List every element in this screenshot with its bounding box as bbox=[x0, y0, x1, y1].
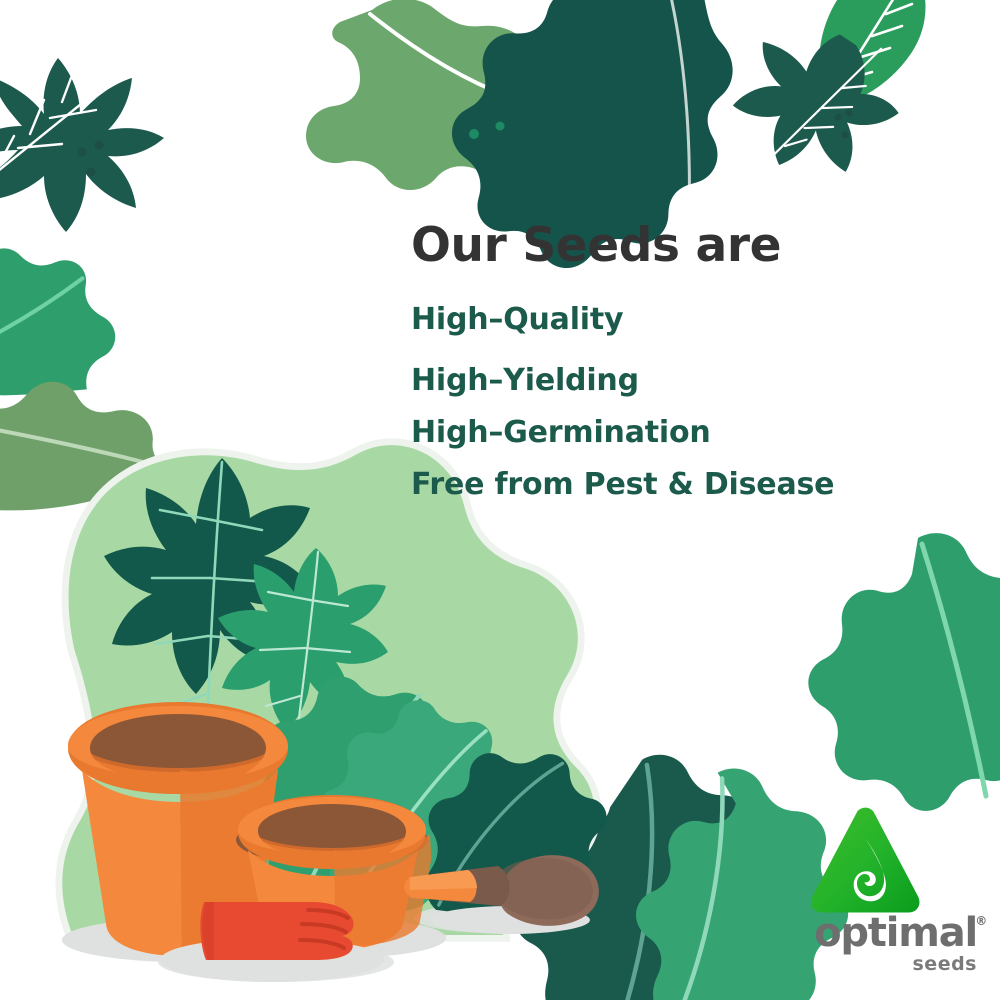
leaf-bottom-right-dark-wavy bbox=[500, 744, 789, 1000]
plant-dark-oak-leaves bbox=[104, 458, 312, 760]
large-terracotta-pot bbox=[68, 702, 300, 980]
benefit-item-high-quality: High–Quality bbox=[411, 305, 971, 335]
plant-broad-wavy-leaves bbox=[194, 656, 626, 938]
optimal-seeds-triangle-mark-icon bbox=[806, 806, 924, 914]
benefit-item-high-yielding: High–Yielding bbox=[411, 366, 971, 396]
dot-cluster-top-center bbox=[469, 122, 505, 140]
brand-name-text: optimal bbox=[814, 910, 977, 956]
benefits-list: High–Quality High–Yielding High–Germinat… bbox=[411, 305, 971, 500]
leaf-top-right-oak bbox=[723, 16, 912, 187]
small-terracotta-pot bbox=[236, 795, 438, 976]
logo-wordmark: optimal ® seeds bbox=[756, 914, 986, 975]
leaf-top-center-sage-wavy bbox=[306, 0, 601, 190]
leaf-top-right-pointed bbox=[819, 0, 925, 108]
headline-block: Our Seeds are High–Quality High–Yielding… bbox=[411, 222, 971, 500]
brand-tagline: seeds bbox=[756, 953, 986, 975]
brand-name: optimal ® bbox=[814, 914, 986, 952]
leaf-right-sea-green-wavy bbox=[808, 533, 1000, 811]
benefit-item-high-germination: High–Germination bbox=[411, 418, 971, 448]
leaf-top-left-oak bbox=[0, 58, 164, 232]
registered-trademark-symbol: ® bbox=[975, 916, 986, 927]
brand-logo: optimal ® seeds bbox=[756, 806, 986, 971]
poster-canvas: Our Seeds are High–Quality High–Yielding… bbox=[0, 0, 1000, 1000]
dot-cluster-top-left bbox=[78, 141, 104, 177]
leaf-left-olive-wavy bbox=[0, 370, 176, 521]
benefit-item-free-from-pest-disease: Free from Pest & Disease bbox=[411, 470, 971, 500]
gardening-gloves bbox=[160, 902, 384, 982]
dot-cluster-top-right bbox=[834, 109, 852, 138]
ground-shadows bbox=[62, 903, 578, 982]
page-title: Our Seeds are bbox=[411, 222, 971, 269]
plant-dark-oak-leaf-secondary bbox=[218, 548, 388, 800]
green-background-blob bbox=[62, 445, 594, 935]
garden-trowel bbox=[404, 855, 599, 934]
leaf-left-sea-green-wavy bbox=[0, 237, 123, 408]
